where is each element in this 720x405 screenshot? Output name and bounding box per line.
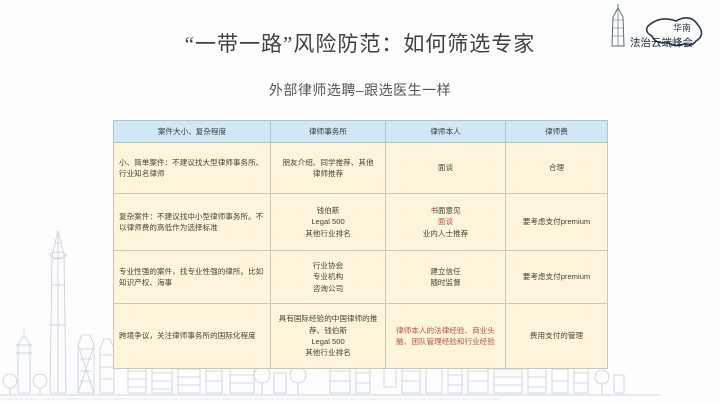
table-header-row: 案件大小、复杂程度 律师事务所 律师本人 律师费 [114,121,608,143]
cell-line: 行业协会 [276,260,380,271]
cell-case-size: 专业性强的案件，找专业性强的律所。比如知识产权、海事 [114,251,271,304]
cell-line: 律师推荐 [276,168,380,179]
column-header-law-firm: 律师事务所 [271,121,386,143]
cell-law-firm: 钱伯斯Legal 500其他行业排名 [271,194,386,251]
cell-line-accent: 律师本人的法律经验、商业头脑、团队管理经验和行业经验 [391,325,500,348]
table-row: 复杂案件：不建议找中小型律师事务所。不以律师费的高低作为选择标准钱伯斯Legal… [114,194,608,251]
cell-case-size: 跨境争议，关注律师事务所的国际化程度 [114,304,271,369]
table-body: 小、简单案件：不建议找大型律师事务所、行业知名律师朋友介绍、同学推荐、其他律师推… [114,143,608,369]
cell-law-firm: 行业协会专业机构咨询公司 [271,251,386,304]
cell-line: 专业机构 [276,271,380,282]
cell-fee: 合理 [506,143,608,194]
cell-line: 业内人士推荐 [391,228,500,239]
cell-line: 咨询公司 [276,283,380,294]
expert-selection-table-wrapper: 案件大小、复杂程度 律师事务所 律师本人 律师费 小、简单案件：不建议找大型律师… [113,120,607,369]
table-row: 跨境争议，关注律师事务所的国际化程度具有国际经验的中国律师的推荐、钱伯斯Lega… [114,304,608,369]
page-title: “一带一路”风险防范：如何筛选专家 [0,28,720,58]
cell-law-firm: 朋友介绍、同学推荐、其他律师推荐 [271,143,386,194]
cell-fee: 要考虑支付premium [506,251,608,304]
cell-line: Legal 500 [276,336,380,347]
cell-line: 朋友介绍、同学推荐、其他 [276,157,380,168]
cell-lawyer: 建立信任随时监督 [386,251,506,304]
cell-line: 钱伯斯 [276,205,380,216]
cell-line: 建立信任 [391,266,500,277]
page-subtitle: 外部律师选聘–跟选医生一样 [0,80,720,100]
column-header-lawyer: 律师本人 [386,121,506,143]
column-header-fee: 律师费 [506,121,608,143]
cell-lawyer: 面谈 [386,143,506,194]
cell-line: Legal 500 [276,216,380,227]
cell-case-size: 小、简单案件：不建议找大型律师事务所、行业知名律师 [114,143,271,194]
cell-law-firm: 具有国际经验的中国律师的推荐、钱伯斯Legal 500其他行业排名 [271,304,386,369]
cell-line: 书面意见 [391,205,500,216]
cell-line-accent: 面谈 [391,216,500,227]
expert-selection-table: 案件大小、复杂程度 律师事务所 律师本人 律师费 小、简单案件：不建议找大型律师… [113,120,608,369]
cell-fee: 费用支付的管理 [506,304,608,369]
table-row: 小、简单案件：不建议找大型律师事务所、行业知名律师朋友介绍、同学推荐、其他律师推… [114,143,608,194]
cell-line: 其他行业排名 [276,228,380,239]
cell-line: 面谈 [391,162,500,173]
cell-case-size: 复杂案件：不建议找中小型律师事务所。不以律师费的高低作为选择标准 [114,194,271,251]
column-header-case-size: 案件大小、复杂程度 [114,121,271,143]
cell-lawyer: 律师本人的法律经验、商业头脑、团队管理经验和行业经验 [386,304,506,369]
cell-line: 具有国际经验的中国律师的推荐、钱伯斯 [276,313,380,336]
cell-fee: 要考虑支付premium [506,194,608,251]
cell-lawyer: 书面意见面谈业内人士推荐 [386,194,506,251]
cell-line: 随时监督 [391,277,500,288]
table-row: 专业性强的案件，找专业性强的律所。比如知识产权、海事行业协会专业机构咨询公司建立… [114,251,608,304]
cell-line: 其他行业排名 [276,347,380,358]
slide-canvas: 华南 Shenzhen 法治云端峰会 “一带一路”风险防范：如何筛选专家 外部律… [0,0,720,405]
